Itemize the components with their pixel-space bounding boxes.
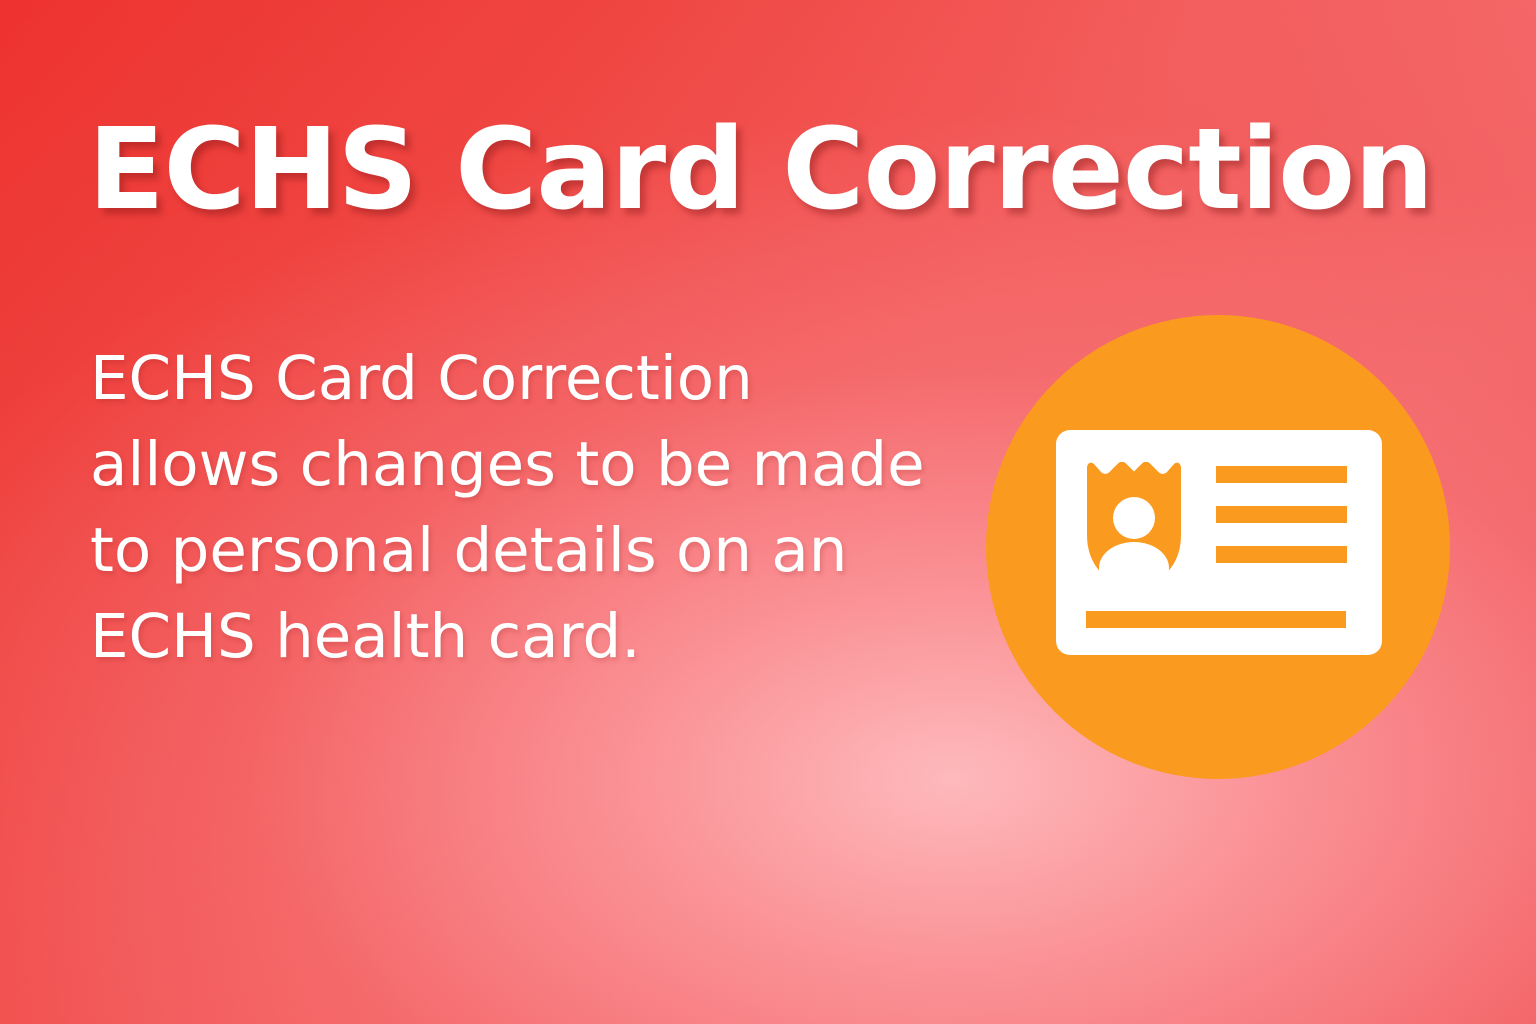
description-line-3: to personal details on an xyxy=(90,508,910,594)
description-line-2: allows changes to be made xyxy=(90,422,910,508)
card-text-lines xyxy=(1216,466,1347,563)
banner-content: ECHS Card Correction ECHS Card Correctio… xyxy=(0,0,1536,1024)
page-title: ECHS Card Correction xyxy=(88,112,1433,230)
card-text-line-wide xyxy=(1086,611,1346,628)
person-head-icon xyxy=(1113,497,1155,539)
card-text-line-1 xyxy=(1216,466,1347,483)
shield-photo-icon xyxy=(1087,462,1181,593)
person-body-icon xyxy=(1099,542,1169,593)
echs-card-correction-banner: ECHS Card Correction ECHS Card Correctio… xyxy=(0,0,1536,1024)
description-line-4: ECHS health card. xyxy=(90,594,910,680)
card-text-line-2 xyxy=(1216,506,1347,523)
card-text-line-3 xyxy=(1216,546,1347,563)
description-text: ECHS Card Correction allows changes to b… xyxy=(90,336,910,680)
id-card-graphic xyxy=(1056,430,1382,655)
id-card-icon xyxy=(986,315,1450,779)
description-line-1: ECHS Card Correction xyxy=(90,336,910,422)
